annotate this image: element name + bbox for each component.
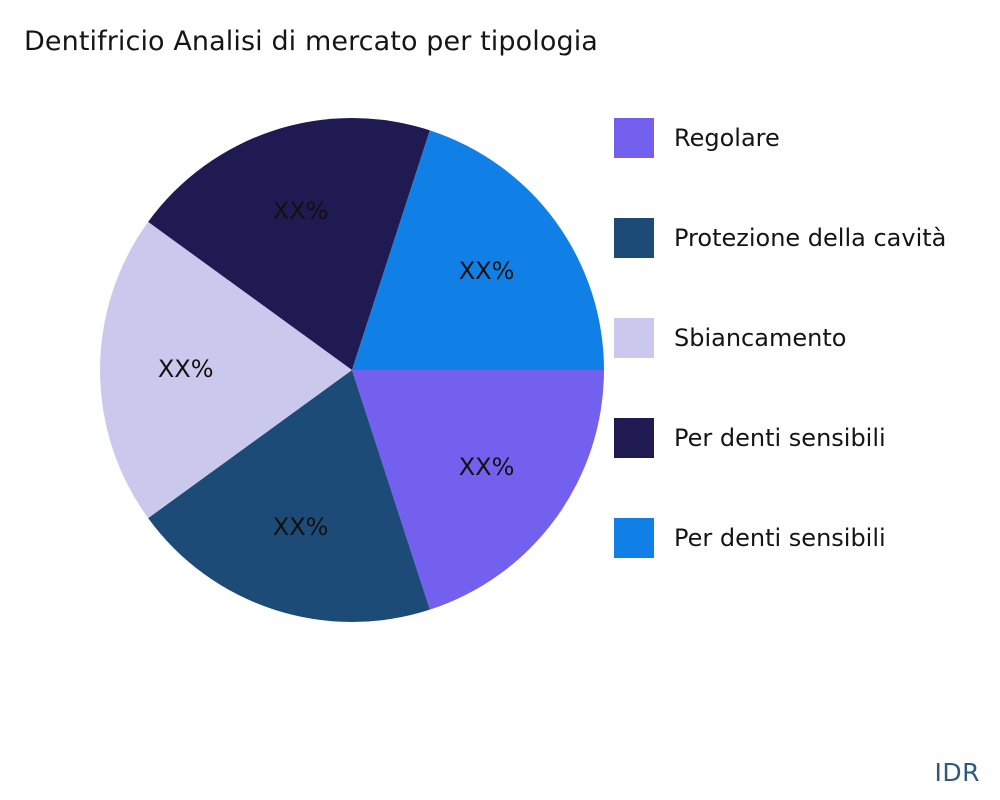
page-title: Dentifricio Analisi di mercato per tipol… xyxy=(24,26,598,57)
legend-swatch-icon xyxy=(614,418,654,458)
watermark: IDR xyxy=(935,758,981,787)
legend-item-label: Per denti sensibili xyxy=(674,426,886,450)
legend-swatch-icon xyxy=(614,318,654,358)
legend-item-label: Sbiancamento xyxy=(674,326,846,350)
legend-swatch-icon xyxy=(614,518,654,558)
pie-chart-svg: XX%XX%XX%XX%XX% xyxy=(100,118,604,622)
legend-item-label: Regolare xyxy=(674,126,780,150)
pie-chart: XX%XX%XX%XX%XX% xyxy=(100,118,604,622)
legend-item[interactable]: Sbiancamento xyxy=(614,318,1000,358)
legend-item-label: Per denti sensibili xyxy=(674,526,886,550)
pie-slice-label: XX% xyxy=(459,453,515,481)
pie-slice-label: XX% xyxy=(273,513,329,541)
pie-slice-label: XX% xyxy=(158,355,214,383)
legend-swatch-icon xyxy=(614,118,654,158)
legend-item[interactable]: Protezione della cavità xyxy=(614,218,1000,258)
chart-legend: RegolareProtezione della cavitàSbiancame… xyxy=(614,118,1000,558)
pie-slice-label: XX% xyxy=(459,257,515,285)
legend-item[interactable]: Per denti sensibili xyxy=(614,518,1000,558)
legend-item[interactable]: Per denti sensibili xyxy=(614,418,1000,458)
pie-slice-label: XX% xyxy=(273,197,329,225)
legend-item[interactable]: Regolare xyxy=(614,118,1000,158)
legend-swatch-icon xyxy=(614,218,654,258)
legend-item-label: Protezione della cavità xyxy=(674,226,946,250)
